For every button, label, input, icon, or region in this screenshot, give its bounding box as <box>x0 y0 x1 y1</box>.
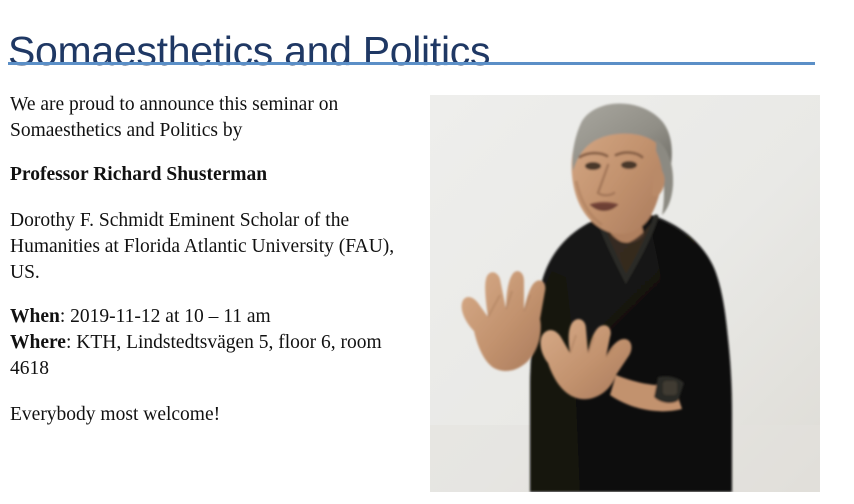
affiliation-paragraph: Dorothy F. Schmidt Eminent Scholar of th… <box>10 208 422 286</box>
seminar-announcement-page: Somaesthetics and Politics We are proud … <box>0 0 854 504</box>
title-divider <box>8 62 815 65</box>
where-value: : KTH, Lindstedtsvägen 5, floor 6, room … <box>10 332 382 379</box>
page-title: Somaesthetics and Politics <box>8 25 828 77</box>
speaker-photo <box>430 95 820 492</box>
where-label: Where <box>10 332 66 353</box>
when-value: : 2019-11-12 at 10 – 11 am <box>60 306 271 327</box>
intro-paragraph: We are proud to announce this seminar on… <box>10 92 422 144</box>
speaker-name: Professor Richard Shusterman <box>10 162 422 188</box>
closing-paragraph: Everybody most welcome! <box>10 402 422 428</box>
speaker-photo-graphic <box>430 95 820 492</box>
announcement-text-column: We are proud to announce this seminar on… <box>10 92 422 428</box>
when-label: When <box>10 306 60 327</box>
event-details: When: 2019-11-12 at 10 – 11 am Where: KT… <box>10 304 422 382</box>
